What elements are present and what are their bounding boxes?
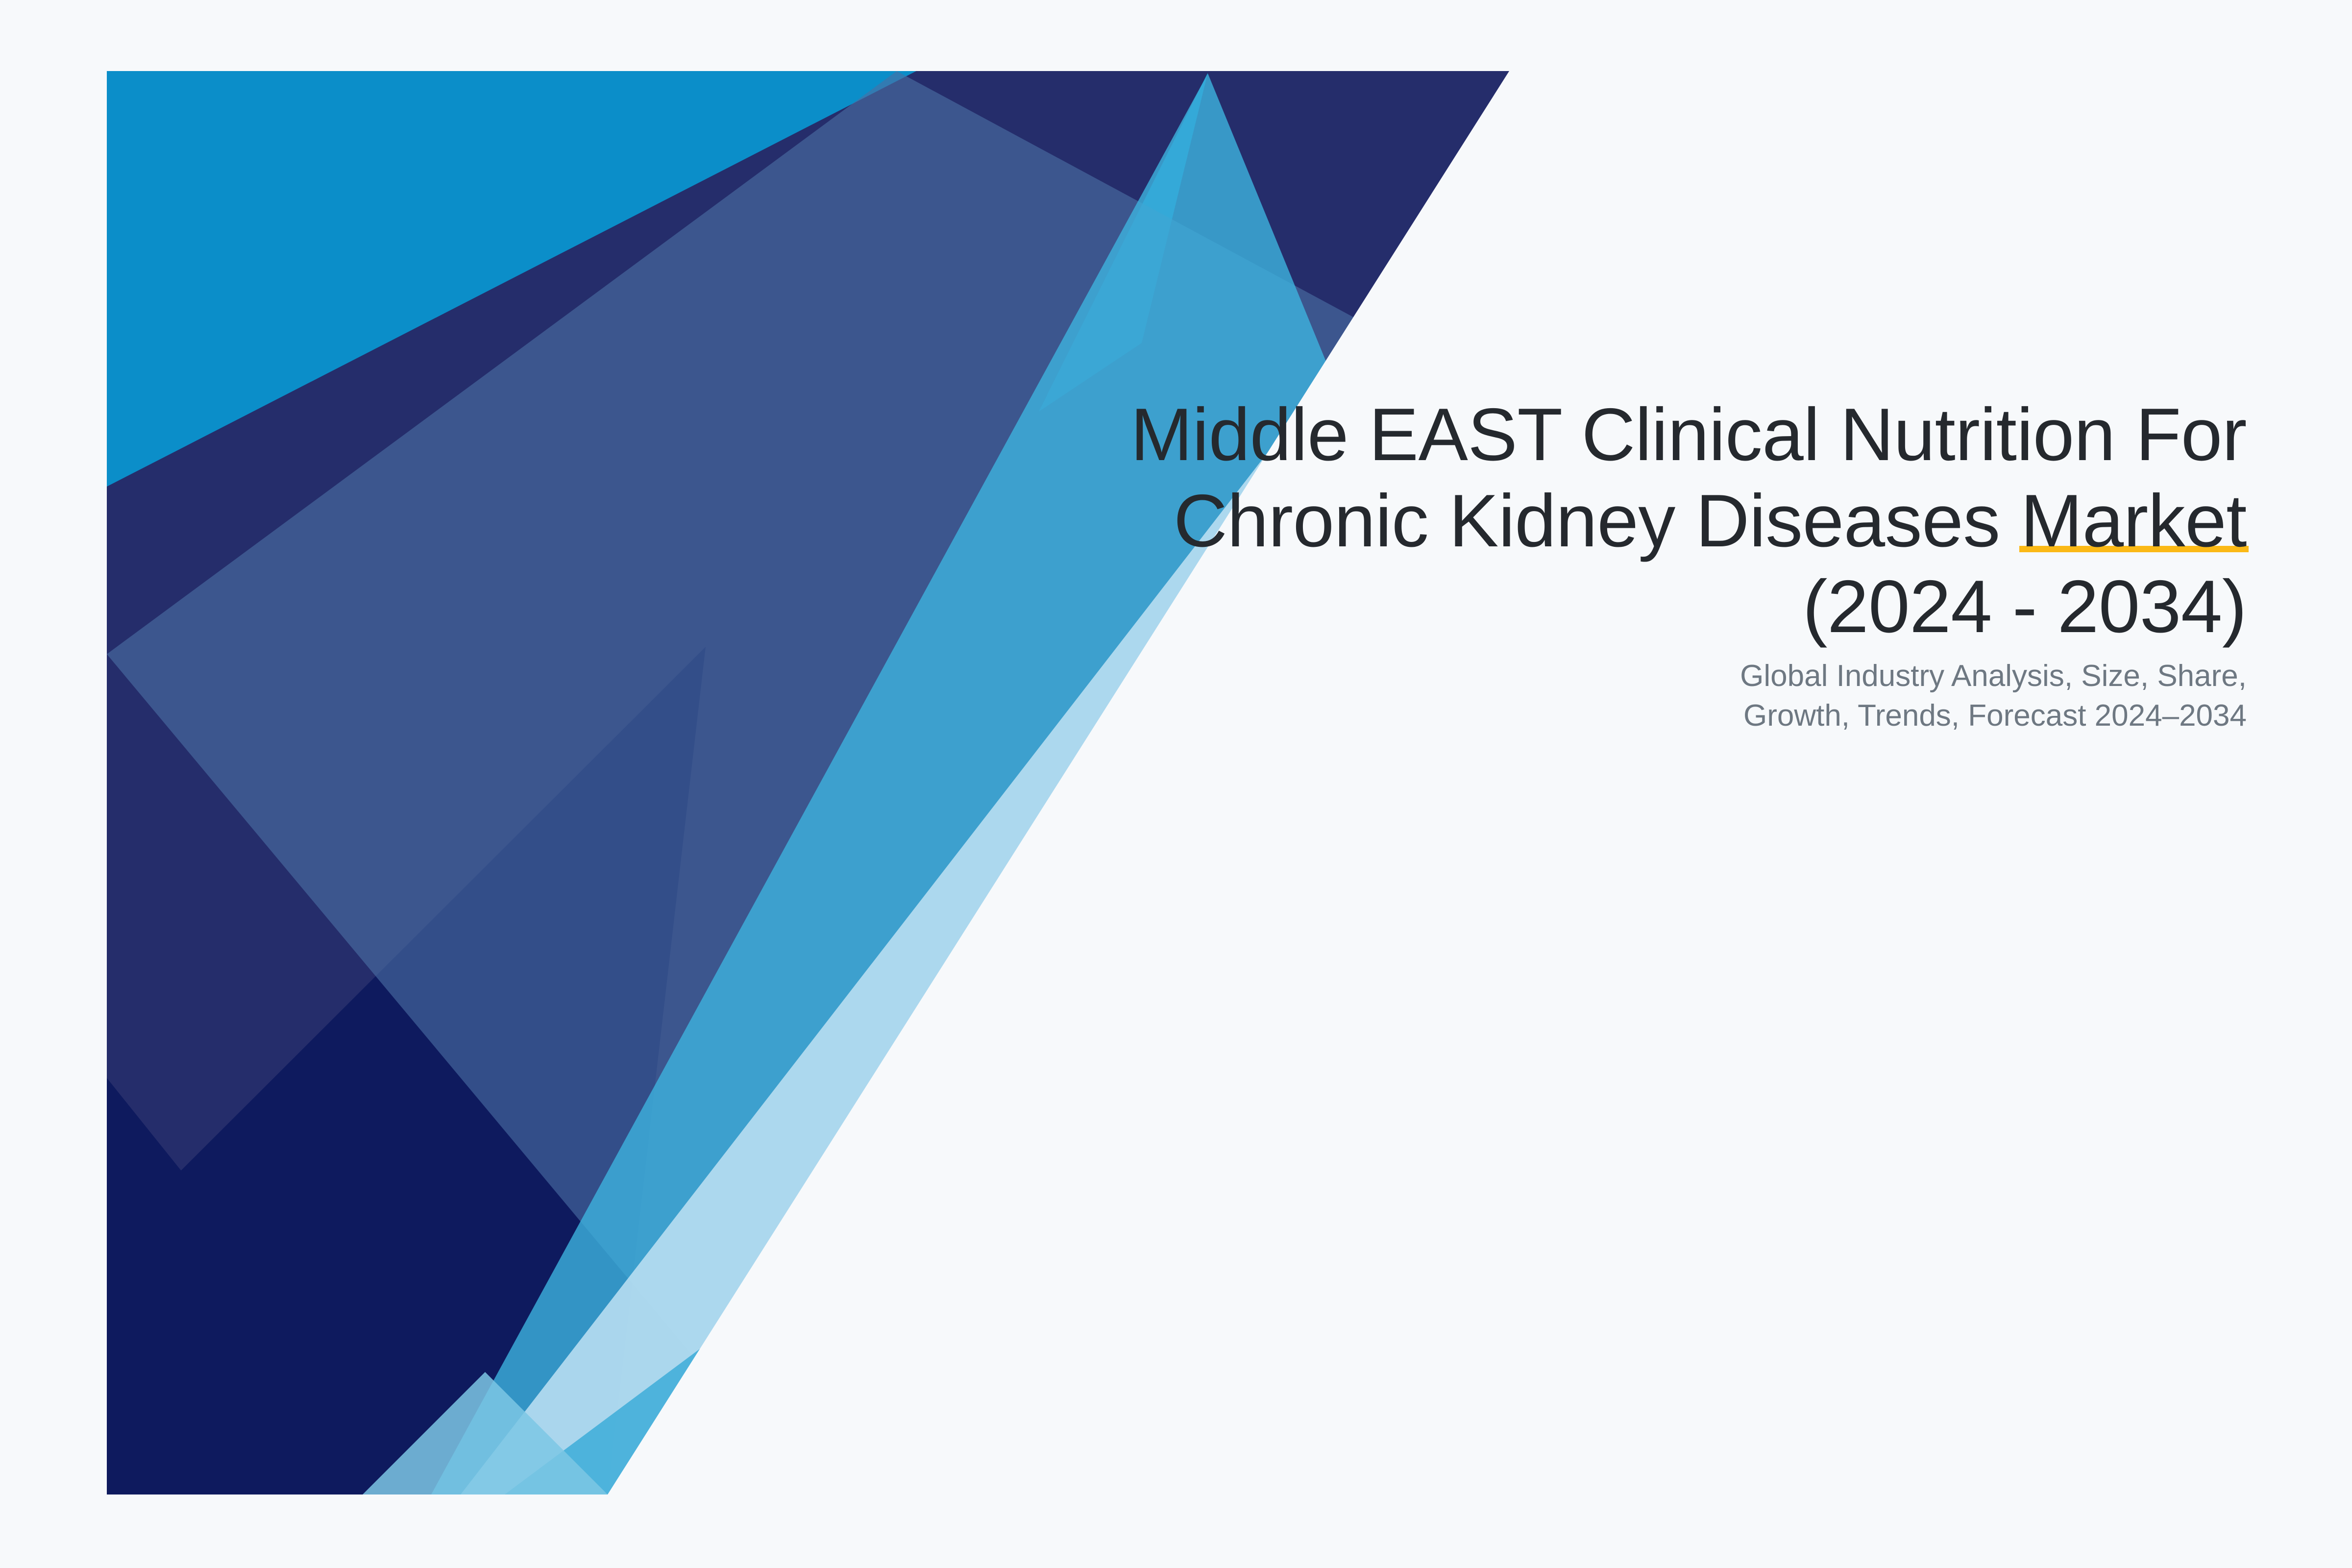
artwork-clip-mask [0,0,2352,1568]
shape-slate-accent-left [107,71,916,654]
title-line-2: Chronic Kidney Diseases Market [963,478,2247,564]
shape-cyan-spike [1039,73,1208,412]
shape-deep-navy-left [107,1078,441,1494]
report-cover-page: Middle EAST Clinical Nutrition For Chron… [0,0,2352,1568]
title-line-3: (2024 - 2034) [963,564,2247,650]
abstract-geometric-cover-graphic [0,0,2352,1568]
page-title: Middle EAST Clinical Nutrition For Chron… [963,392,2247,650]
title-line-2-text: Chronic Kidney Diseases [1174,479,2020,563]
shape-slate-overlay-main [107,71,1401,1494]
shape-cyan-base [107,71,1509,1494]
shape-pale-highlight-right [652,764,1617,1494]
subtitle-line-1: Global Industry Analysis, Size, Share, [1463,657,2247,696]
shape-lightblue-v-notch [363,1372,608,1494]
title-line-1: Middle EAST Clinical Nutrition For [963,392,2247,478]
title-highlight-market: Market [2020,478,2247,564]
shape-deep-navy-wedge [107,647,706,1494]
shape-navy-top-right [107,71,1509,1494]
shape-mid-blue-edge-band [505,745,1602,1494]
shape-sky-blue-band [431,73,1499,1494]
subtitle-line-2: Growth, Trends, Forecast 2024–2034 [1463,696,2247,736]
title-highlight-label: Market [2020,479,2247,563]
page-subtitle: Global Industry Analysis, Size, Share, G… [1463,657,2247,735]
